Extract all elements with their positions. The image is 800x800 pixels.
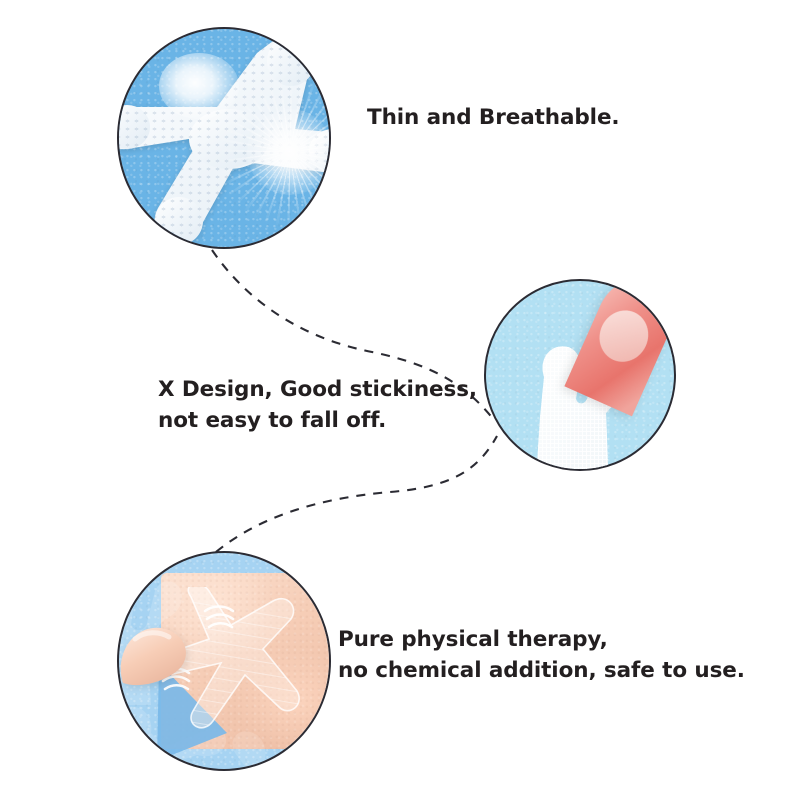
caption-line: no chemical addition, safe to use. (338, 655, 745, 686)
feature-image-thin-breathable (117, 27, 331, 249)
caption-line: not easy to fall off. (158, 405, 477, 436)
caption-line: Pure physical therapy, (338, 624, 745, 655)
caption-x-design-sticky: X Design, Good stickiness, not easy to f… (158, 374, 477, 436)
caption-pure-physical-therapy: Pure physical therapy, no chemical addit… (338, 624, 745, 686)
feature-image-pure-physical-therapy (117, 551, 331, 771)
x-patch-illustration (117, 37, 331, 243)
connector-3-to-2 (216, 436, 497, 552)
caption-line: X Design, Good stickiness, (158, 374, 477, 405)
finger-illustration (117, 621, 191, 689)
caption-line: Thin and Breathable. (367, 102, 620, 133)
background-patch-silhouette (225, 729, 331, 771)
infographic-canvas: Thin and Breathable. X Design, Good stic… (0, 0, 800, 800)
caption-thin-breathable: Thin and Breathable. (367, 102, 620, 133)
feature-image-x-design-sticky (484, 279, 676, 471)
